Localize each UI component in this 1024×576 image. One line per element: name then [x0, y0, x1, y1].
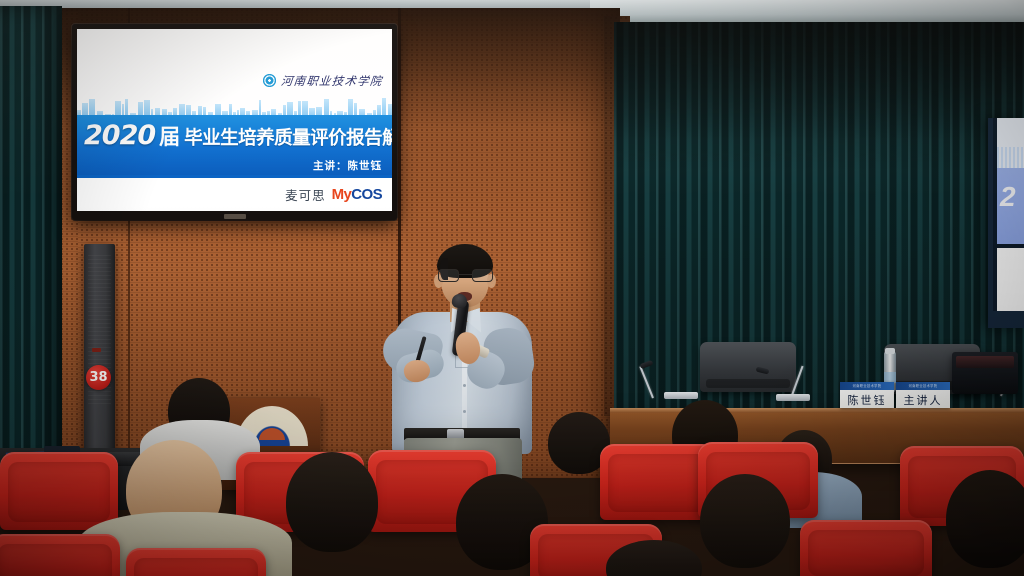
audience-head	[946, 470, 1024, 568]
institution-emblem-icon	[263, 74, 276, 87]
display-brand-logo	[224, 214, 246, 219]
auditorium-seat	[800, 520, 932, 576]
institution-logo: 河南职业技术学院	[263, 73, 383, 89]
nameplate-speaker: 河南职业技术学院 陈世钰	[840, 382, 894, 408]
secondary-slide-skyline	[997, 147, 1024, 168]
water-bottle-cap	[885, 348, 895, 354]
stage-curtain-left	[0, 6, 62, 476]
asset-tag-38: 38	[86, 365, 111, 390]
slide-title: 2020 届 毕业生培养质量评价报告解读会	[84, 120, 392, 151]
eyeglass-bridge	[459, 274, 472, 275]
secondary-display-bezel	[993, 311, 1024, 328]
presentation-slide: 河南职业技术学院 2020 届 毕业生培养质量评价报告解读会 主讲：陈世钰 麦可…	[77, 29, 392, 211]
nameplate-name-text: 陈世钰	[848, 395, 887, 406]
speaker-power-led-icon	[92, 348, 101, 352]
nameplate-header-text: 河南职业技术学院	[896, 382, 950, 390]
nameplate-header-text: 河南职业技术学院	[840, 382, 894, 390]
eyeglasses-icon	[438, 269, 493, 282]
brand-name-en: MyCOS	[332, 186, 382, 203]
slide-title-year-suffix: 届	[159, 121, 180, 151]
auditorium-seat	[0, 534, 120, 576]
pa-speaker-tower	[84, 244, 115, 464]
secondary-display-screen[interactable]: 2	[988, 118, 1024, 328]
shirt-button	[463, 384, 466, 387]
eyeglass-lens-left	[438, 269, 459, 282]
audience-head	[286, 452, 378, 552]
auditorium-seat	[126, 548, 266, 576]
curtain-shadow	[614, 22, 1024, 172]
slide-footer-brand: 麦可思 MyCOS	[77, 178, 392, 211]
slide-title-main: 毕业生培养质量评价报告解读会	[184, 124, 392, 150]
brand-name-en-my: My	[332, 186, 352, 203]
slide-presenter-line: 主讲：陈世钰	[313, 158, 382, 173]
shirt-button	[463, 410, 466, 413]
eyeglass-lens-right	[472, 269, 493, 282]
secondary-slide-title-fragment: 2	[1000, 181, 1016, 213]
wall-display-screen[interactable]: 河南职业技术学院 2020 届 毕业生培养质量评价报告解读会 主讲：陈世钰 麦可…	[72, 24, 397, 220]
microphone-base	[776, 394, 810, 401]
nameplate-name-text: 主讲人	[904, 395, 943, 406]
slide-title-year: 2020	[84, 120, 155, 151]
nameplate-role: 河南职业技术学院 主讲人	[896, 382, 950, 408]
laptop-on-table[interactable]	[952, 352, 1018, 394]
conference-hall-scene: 河南职业技术学院 2020 届 毕业生培养质量评价报告解读会 主讲：陈世钰 麦可…	[0, 0, 1024, 576]
nameplate-header: 河南职业技术学院	[840, 382, 894, 390]
brand-name-cn: 麦可思	[285, 185, 326, 204]
auditorium-seat	[0, 452, 118, 530]
head-table-chair	[700, 342, 796, 392]
secondary-slide-bottom	[997, 248, 1024, 311]
audience-head	[700, 474, 790, 568]
microphone-base	[664, 392, 698, 399]
institution-logo-text: 河南职业技术学院	[281, 73, 384, 89]
brand-name-en-cos: COS	[351, 186, 382, 203]
nameplate-header: 河南职业技术学院	[896, 382, 950, 390]
